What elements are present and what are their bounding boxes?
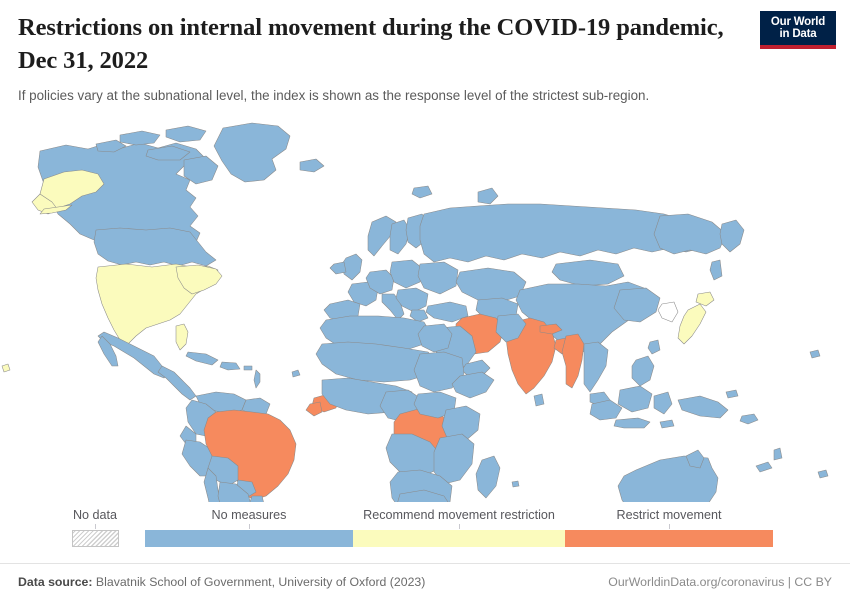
country-russia-far-east[interactable] bbox=[654, 214, 726, 254]
country-philippines[interactable] bbox=[632, 356, 654, 386]
country-kazakhstan[interactable] bbox=[456, 268, 526, 302]
country-svalbard[interactable] bbox=[412, 186, 432, 198]
country-thailand-indochina[interactable] bbox=[584, 342, 608, 392]
logo-line-2: in Data bbox=[780, 28, 817, 40]
legend-label-no-data: No data bbox=[73, 508, 117, 522]
country-borneo[interactable] bbox=[618, 386, 652, 412]
country-korea[interactable] bbox=[658, 302, 678, 322]
country-papua-islands[interactable] bbox=[726, 390, 738, 398]
attribution-link[interactable]: OurWorldinData.org/coronavirus | CC BY bbox=[608, 575, 832, 589]
map-countries bbox=[2, 123, 828, 502]
country-myanmar[interactable] bbox=[562, 334, 584, 388]
country-japan[interactable] bbox=[678, 304, 706, 344]
world-map-svg[interactable] bbox=[0, 104, 850, 502]
country-solomon-islands[interactable] bbox=[740, 414, 758, 424]
legend-swatch-no-measures[interactable] bbox=[145, 530, 353, 547]
country-hispaniola[interactable] bbox=[220, 362, 240, 370]
world-map[interactable] bbox=[0, 104, 850, 502]
country-taiwan[interactable] bbox=[648, 340, 660, 354]
country-ireland[interactable] bbox=[330, 262, 346, 274]
country-hawaii[interactable] bbox=[810, 350, 820, 358]
country-central-america[interactable] bbox=[158, 366, 196, 400]
page-title: Restrictions on internal movement during… bbox=[18, 12, 738, 77]
country-poland-baltics[interactable] bbox=[390, 260, 422, 288]
legend-tick-recommend bbox=[459, 524, 460, 529]
country-sulawesi[interactable] bbox=[654, 392, 672, 414]
country-canada-arctic-2[interactable] bbox=[166, 126, 206, 142]
chart-footer: Data source: Blavatnik School of Governm… bbox=[0, 563, 850, 600]
owid-map-chart: Restrictions on internal movement during… bbox=[0, 0, 850, 600]
country-puerto-rico[interactable] bbox=[244, 366, 252, 370]
country-sri-lanka[interactable] bbox=[534, 394, 544, 406]
country-greenland[interactable] bbox=[214, 123, 290, 182]
country-indonesia-java[interactable] bbox=[614, 418, 650, 428]
country-ukraine-belarus[interactable] bbox=[418, 262, 458, 294]
legend-label-recommend-movement-restriction: Recommend movement restriction bbox=[363, 508, 555, 522]
legend-label-restrict-movement: Restrict movement bbox=[617, 508, 722, 522]
country-japan-hokkaido[interactable] bbox=[696, 292, 714, 306]
legend-swatch-restrict-movement[interactable] bbox=[565, 530, 773, 547]
legend-label-no-measures: No measures bbox=[212, 508, 287, 522]
country-uruguay[interactable] bbox=[250, 496, 264, 502]
country-mongolia[interactable] bbox=[552, 260, 624, 286]
data-source-text: Blavatnik School of Government, Universi… bbox=[96, 575, 425, 589]
logo-line-1: Our World bbox=[771, 16, 825, 28]
legend-tick-restrict bbox=[669, 524, 670, 529]
country-iceland[interactable] bbox=[300, 159, 324, 172]
country-cape-verde[interactable] bbox=[292, 370, 300, 377]
map-legend: No data No measures Recommend movement r… bbox=[0, 508, 850, 554]
country-bermuda[interactable] bbox=[2, 364, 10, 372]
country-vanuatu[interactable] bbox=[774, 448, 782, 460]
country-sakhalin[interactable] bbox=[710, 260, 722, 280]
country-sierra-leone[interactable] bbox=[306, 402, 322, 416]
country-new-guinea[interactable] bbox=[678, 396, 728, 418]
country-canada-arctic-1[interactable] bbox=[120, 131, 160, 145]
country-new-caledonia[interactable] bbox=[756, 462, 772, 472]
country-timor[interactable] bbox=[660, 420, 674, 428]
country-egypt[interactable] bbox=[418, 324, 452, 352]
data-source-label: Data source: bbox=[18, 575, 93, 589]
country-kamchatka[interactable] bbox=[720, 220, 744, 252]
country-lesser-antilles[interactable] bbox=[254, 370, 260, 388]
country-australia[interactable] bbox=[618, 456, 718, 502]
chart-subtitle: If policies vary at the subnational leve… bbox=[18, 87, 832, 104]
country-novaya-zemlya[interactable] bbox=[478, 188, 498, 204]
country-madagascar[interactable] bbox=[476, 456, 500, 498]
our-world-in-data-logo[interactable]: Our World in Data bbox=[760, 11, 836, 49]
legend-tick-no-data bbox=[95, 524, 96, 529]
legend-swatch-no-data[interactable] bbox=[72, 530, 119, 547]
chart-header: Restrictions on internal movement during… bbox=[18, 12, 832, 104]
country-cuba[interactable] bbox=[186, 352, 218, 365]
legend-labels: No data No measures Recommend movement r… bbox=[0, 508, 850, 526]
country-mauritius[interactable] bbox=[512, 481, 519, 487]
data-source: Data source: Blavatnik School of Governm… bbox=[18, 575, 425, 589]
country-us-florida[interactable] bbox=[176, 324, 188, 350]
legend-swatch-recommend-movement-restriction[interactable] bbox=[353, 530, 565, 547]
country-fiji[interactable] bbox=[818, 470, 828, 478]
legend-tick-no-measures bbox=[249, 524, 250, 529]
